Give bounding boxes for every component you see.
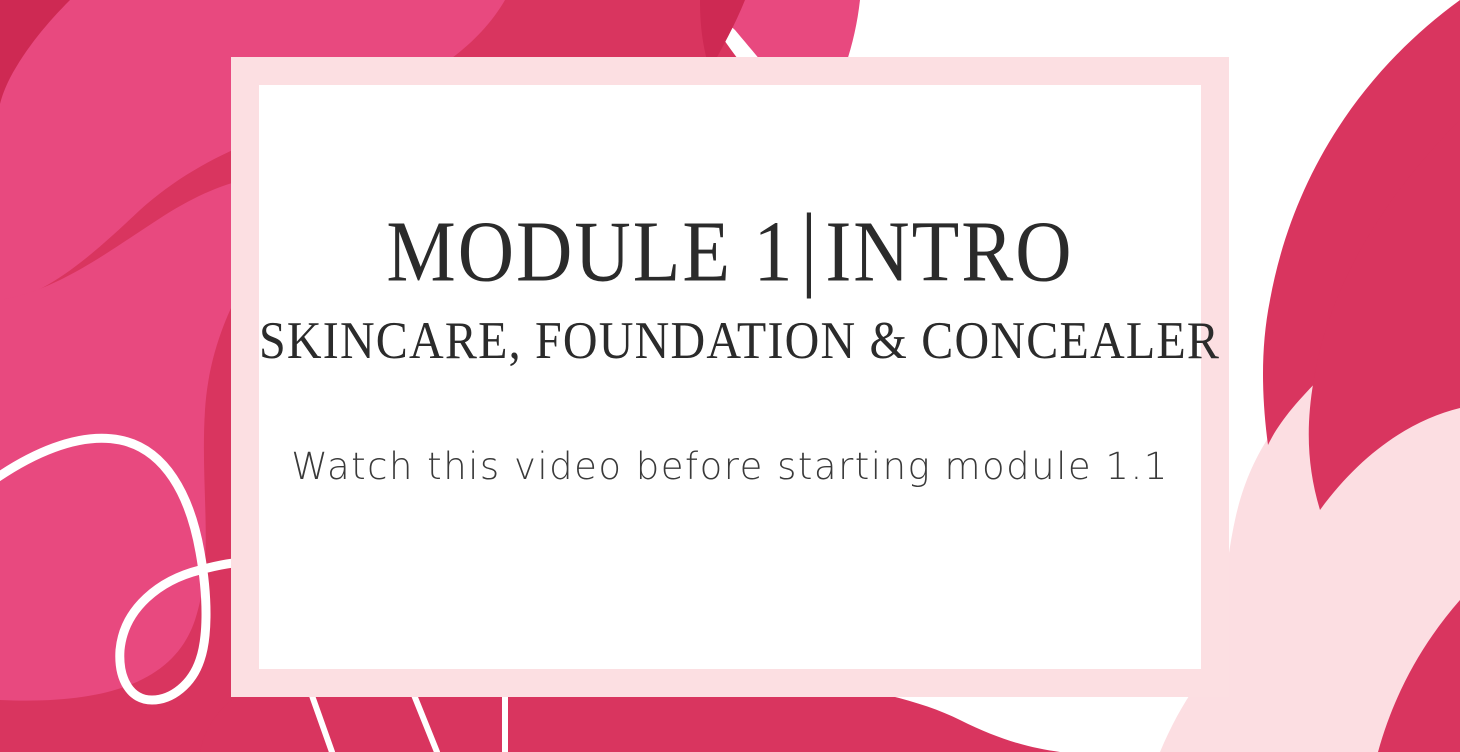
- page-subtitle: SKINCARE, FOUNDATION & CONCEALER: [259, 315, 1201, 368]
- content-card-inner: MODULE 1|INTRO SKINCARE, FOUNDATION & CO…: [259, 85, 1201, 669]
- title-part-one: MODULE 1: [386, 202, 794, 299]
- title-block: MODULE 1|INTRO SKINCARE, FOUNDATION & CO…: [259, 203, 1201, 363]
- instruction-text: Watch this video before starting module …: [259, 445, 1201, 488]
- title-part-two: INTRO: [825, 202, 1073, 299]
- title-divider: |: [795, 195, 826, 299]
- content-card: MODULE 1|INTRO SKINCARE, FOUNDATION & CO…: [231, 57, 1229, 697]
- page-title: MODULE 1|INTRO: [259, 203, 1201, 297]
- slide-canvas: MODULE 1|INTRO SKINCARE, FOUNDATION & CO…: [0, 0, 1460, 752]
